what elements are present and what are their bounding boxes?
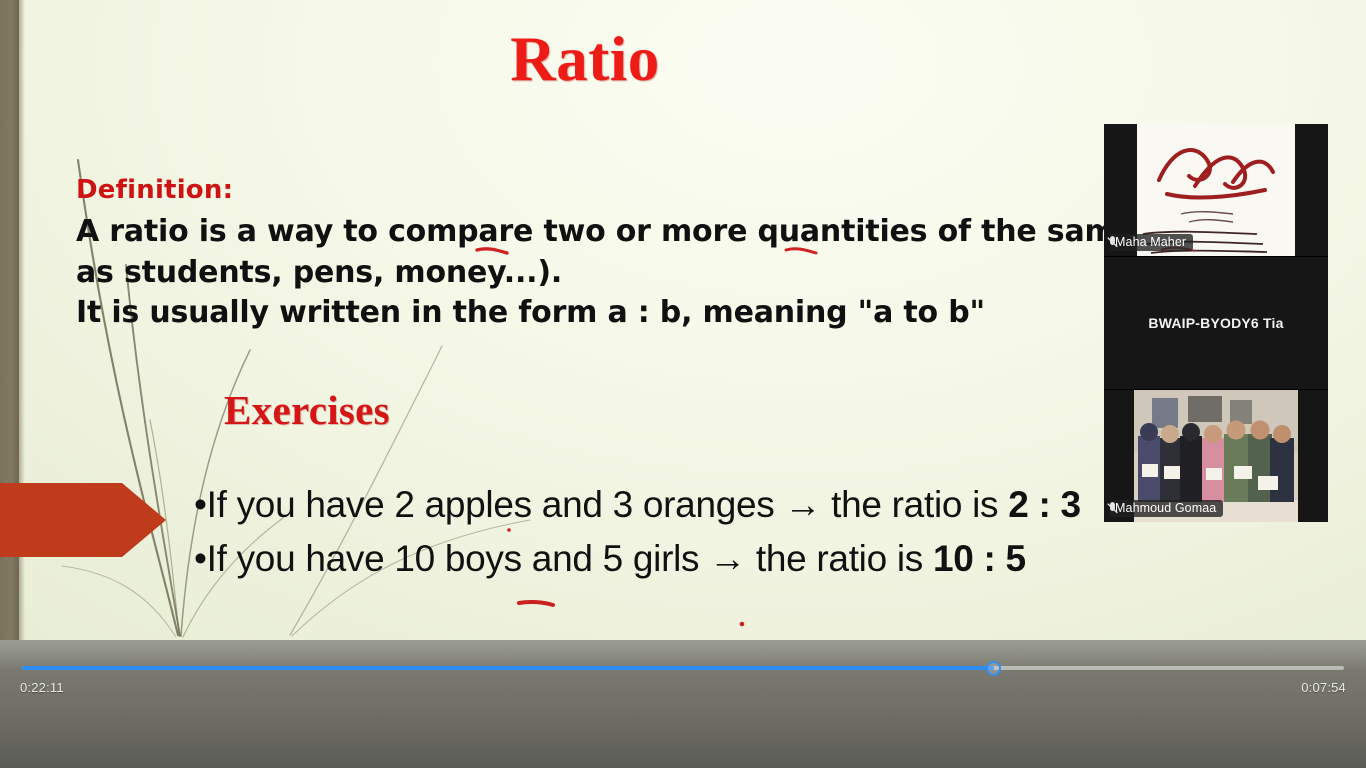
elapsed-time-label: 0:22:11 bbox=[20, 680, 64, 695]
participant-tile-mahmoud-gomaa[interactable]: Mahmoud Gomaa bbox=[1104, 389, 1328, 522]
remaining-time-label: 0:07:54 bbox=[1301, 680, 1346, 695]
participant-tile-maha-maher[interactable]: Maha Maher bbox=[1104, 124, 1328, 256]
slide-left-band-shadow bbox=[19, 0, 25, 640]
participant-tile-bwaip-byody6-tia[interactable]: BWAIP-BYODY6 Tia bbox=[1104, 256, 1328, 389]
slide-title: Ratio bbox=[0, 28, 1170, 91]
video-player-stage: Ratio Definition: A ratio is a way to co… bbox=[0, 0, 1366, 768]
mic-muted-icon bbox=[1106, 502, 1119, 515]
red-arrow-callout-icon bbox=[0, 477, 174, 563]
definition-line-1: A ratio is a way to compare two or more … bbox=[76, 212, 1256, 253]
participant-name-text: Mahmoud Gomaa bbox=[1115, 501, 1216, 515]
bullet-answer-2: 10 : 5 bbox=[933, 538, 1026, 579]
definition-label: Definition: bbox=[76, 176, 1256, 206]
definition-line-2: as students, pens, money...). bbox=[76, 253, 1256, 294]
seek-bar[interactable] bbox=[22, 662, 1344, 674]
participant-video-rail: Maha Maher BWAIP-BYODY6 Tia bbox=[1104, 124, 1328, 522]
seek-progress bbox=[22, 666, 994, 670]
participant-name-text-center: BWAIP-BYODY6 Tia bbox=[1104, 315, 1328, 331]
participant-name-badge: Maha Maher bbox=[1110, 234, 1193, 251]
bullet-answer-1: 2 : 3 bbox=[1008, 484, 1081, 525]
seek-thumb[interactable] bbox=[986, 661, 1001, 676]
definition-block: Definition: A ratio is a way to compare … bbox=[76, 176, 1256, 334]
mic-muted-icon bbox=[1106, 236, 1119, 249]
slide-left-band bbox=[0, 0, 19, 640]
participant-name-text: Maha Maher bbox=[1115, 235, 1186, 249]
bullet-item-2: •If you have 10 boys and 5 girls → the r… bbox=[194, 532, 1354, 586]
participant-name-badge: Mahmoud Gomaa bbox=[1110, 500, 1223, 517]
definition-line-3: It is usually written in the form a : b,… bbox=[76, 293, 1256, 334]
player-control-bar: نفذلي nafezly.com 0:22:11 0:07:54 bbox=[0, 640, 1366, 768]
exercises-heading: Exercises bbox=[224, 386, 390, 434]
bullet-text-1: •If you have 2 apples and 3 oranges → th… bbox=[194, 484, 1008, 525]
bullet-text-2: •If you have 10 boys and 5 girls → the r… bbox=[194, 538, 933, 579]
